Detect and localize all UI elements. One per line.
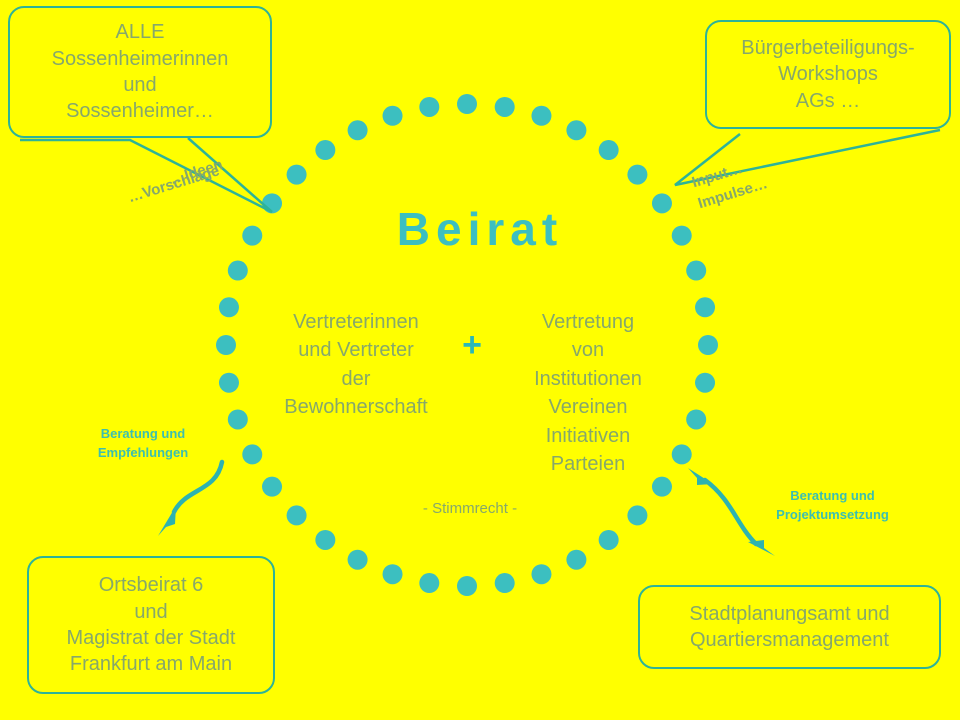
callout-workshops-line-1: Bürgerbeteiligungs- <box>707 35 949 61</box>
stimmrecht-note: - Stimmrecht - <box>350 500 590 517</box>
ring-dot <box>457 94 477 114</box>
ring-dot <box>566 120 586 140</box>
center-column-institutions: Vertretung von Institutionen Vereinen In… <box>490 308 686 478</box>
arrow-label-left-line-1: Beratung und <box>68 425 218 444</box>
stadtplanungsamt-line-1: Stadtplanungsamt und <box>640 601 939 627</box>
ring-dot <box>627 505 647 525</box>
callout-citizens-line-1: ALLE <box>10 19 270 45</box>
box-ortsbeirat[interactable]: Ortsbeirat 6 und Magistrat der Stadt Fra… <box>27 556 275 694</box>
ring-dot <box>457 576 477 596</box>
ortsbeirat-line-1: Ortsbeirat 6 <box>29 572 273 598</box>
ring-dot <box>695 373 715 393</box>
ring-dot <box>419 573 439 593</box>
plus-icon: + <box>452 328 492 362</box>
institutions-line-5: Initiativen <box>490 422 686 450</box>
ring-dot <box>566 550 586 570</box>
ring-dot <box>219 373 239 393</box>
residents-line-3: der <box>258 365 454 393</box>
tail-label-vorschlaege: …Vorschläge <box>126 162 222 206</box>
residents-line-4: Bewohnerschaft <box>258 393 454 421</box>
ring-dot <box>419 97 439 117</box>
diagram-title: Beirat <box>0 202 960 256</box>
center-column-residents: Vertreterinnen und Vertreter der Bewohne… <box>258 308 454 422</box>
ring-dot <box>686 409 706 429</box>
stadtplanungsamt-line-2: Quartiersmanagement <box>640 627 939 653</box>
ortsbeirat-line-3: Magistrat der Stadt <box>29 625 273 651</box>
institutions-line-4: Vereinen <box>490 393 686 421</box>
institutions-line-3: Institutionen <box>490 365 686 393</box>
arrow-label-right: Beratung und Projektumsetzung <box>745 487 920 525</box>
right-arrow-head-down <box>748 540 775 556</box>
arrow-label-right-line-1: Beratung und <box>745 487 920 506</box>
box-stadtplanungsamt[interactable]: Stadtplanungsamt und Quartiersmanagement <box>638 585 941 669</box>
callout-citizens-line-4: Sossenheimer… <box>10 98 270 124</box>
left-arrow-head <box>158 506 176 536</box>
institutions-line-6: Parteien <box>490 450 686 478</box>
ring-dot <box>495 97 515 117</box>
ring-dot <box>287 505 307 525</box>
ring-dot <box>315 140 335 160</box>
ring-dot <box>219 297 239 317</box>
ring-dot <box>348 120 368 140</box>
ring-dot <box>599 140 619 160</box>
ortsbeirat-line-4: Frankfurt am Main <box>29 651 273 677</box>
callout-citizens-line-3: und <box>10 72 270 98</box>
ortsbeirat-line-2: und <box>29 599 273 625</box>
callout-citizens-line-2: Sossenheimerinnen <box>10 46 270 72</box>
ring-dot <box>216 335 236 355</box>
ring-dot <box>698 335 718 355</box>
ring-dot <box>686 261 706 281</box>
ring-dot <box>383 564 403 584</box>
arrow-label-left: Beratung und Empfehlungen <box>68 425 218 463</box>
ring-dot <box>262 477 282 497</box>
ring-dot <box>228 261 248 281</box>
residents-line-1: Vertreterinnen <box>258 308 454 336</box>
ring-dot <box>599 530 619 550</box>
ring-dot <box>287 165 307 185</box>
left-curved-arrow <box>174 462 222 512</box>
ring-dot <box>627 165 647 185</box>
ring-dot <box>531 106 551 126</box>
callout-workshops-line-3: AGs … <box>707 88 949 114</box>
callout-citizens[interactable]: ALLE Sossenheimerinnen und Sossenheimer… <box>8 6 272 138</box>
callout-workshops[interactable]: Bürgerbeteiligungs- Workshops AGs … <box>705 20 951 129</box>
residents-line-2: und Vertreter <box>258 336 454 364</box>
ring-dot <box>495 573 515 593</box>
institutions-line-1: Vertretung <box>490 308 686 336</box>
ring-dot <box>228 409 248 429</box>
ring-dot <box>383 106 403 126</box>
ring-dot <box>242 444 262 464</box>
diagram-canvas: ALLE Sossenheimerinnen und Sossenheimer…… <box>0 0 960 720</box>
callout-workshops-line-2: Workshops <box>707 61 949 87</box>
ring-dot <box>315 530 335 550</box>
ring-dot <box>531 564 551 584</box>
arrow-label-left-line-2: Empfehlungen <box>68 444 218 463</box>
ring-dot <box>695 297 715 317</box>
ring-dot <box>348 550 368 570</box>
arrow-label-right-line-2: Projektumsetzung <box>745 506 920 525</box>
right-arrow-head-up <box>688 468 713 485</box>
ring-dot <box>652 477 672 497</box>
institutions-line-2: von <box>490 336 686 364</box>
